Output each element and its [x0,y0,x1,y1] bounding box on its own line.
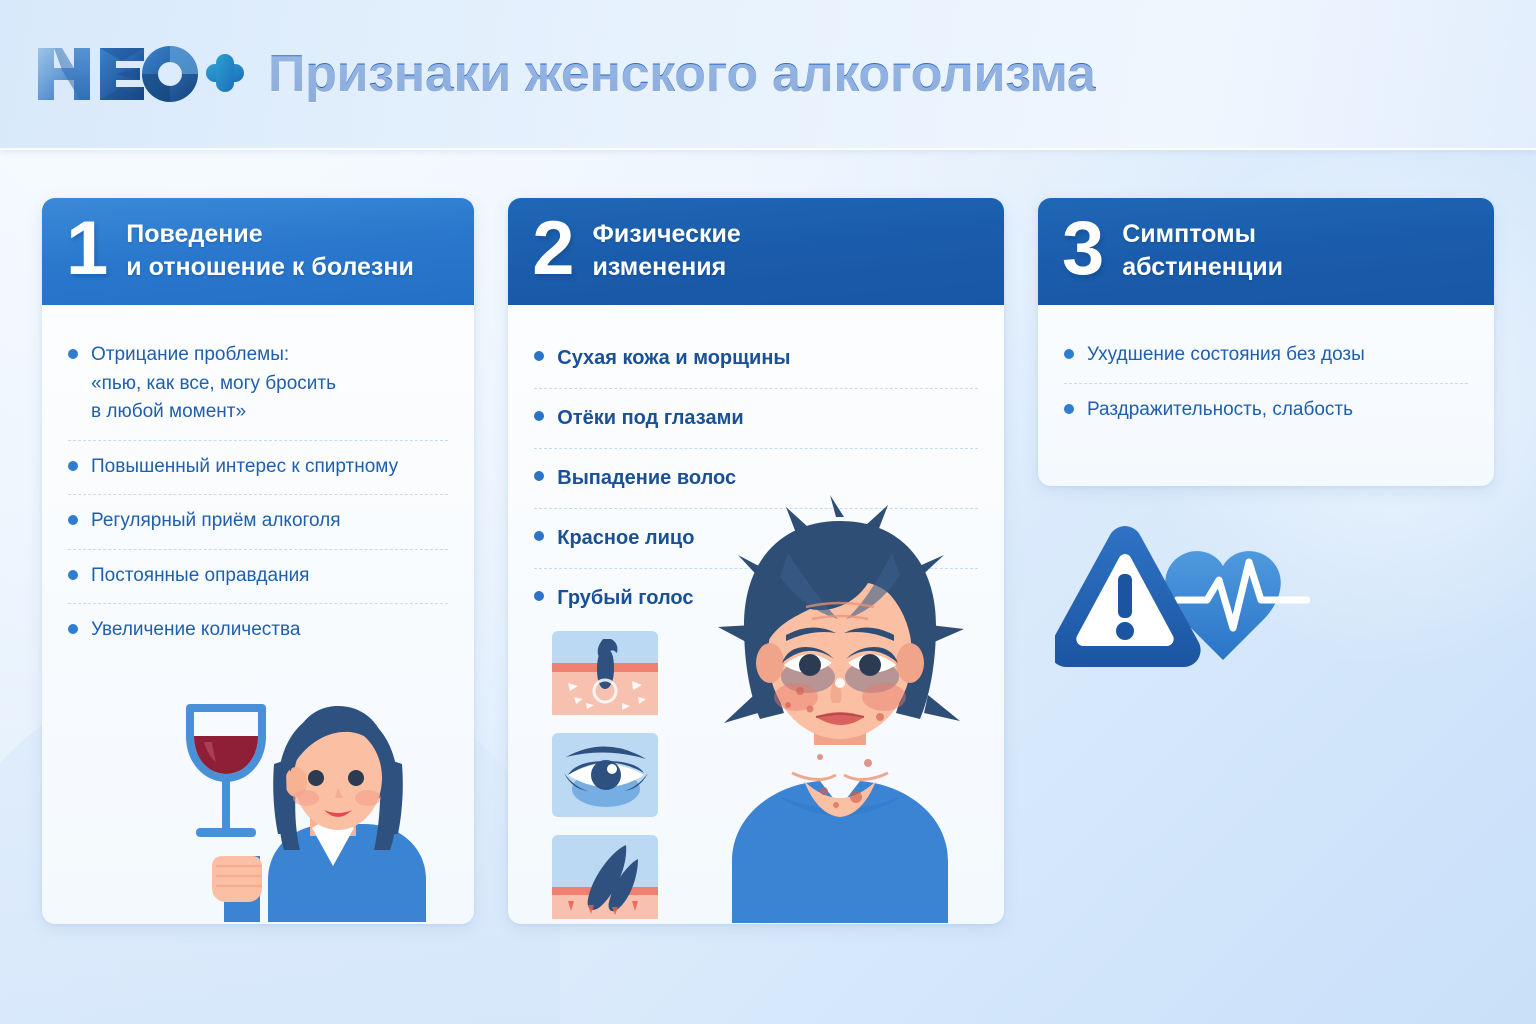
list-item: Ухудшение состояния без дозы [1064,329,1468,384]
bullet-dot-icon [68,515,78,525]
list-item: Отрицание проблемы: «пью, как все, могу … [68,329,448,441]
bullet-label: Выпадение волос [557,463,736,493]
bullet-label: Регулярный приём алкоголя [91,507,341,536]
card-body-3: Ухудшение состояния без дозы Раздражител… [1038,305,1494,437]
card-title-2-line2: изменения [593,253,727,281]
bullet-label: Увеличение количества [91,616,300,645]
infographic-poster: Признаки женского алкоголизма 1 Поведени… [0,0,1536,1024]
bullet-dot-icon [534,471,544,481]
bullet-dot-icon [68,624,78,634]
bullet-main-text: Отрицание проблемы: [91,344,289,365]
card-withdrawal-symptoms: 3 Симптомы абстиненции Ухудшение состоян… [1038,198,1494,486]
bullet-label: Постоянные оправдания [91,562,309,591]
bullet-label: Красное лицо [557,523,694,553]
hair-loss-icon [552,835,658,919]
woman-with-wine-glass-illustration [160,650,480,930]
skin-pores-icon [552,631,658,715]
symptom-icon-stack [540,625,670,925]
card-title-2: Физические изменения [593,218,741,284]
card-title-1: Поведение и отношение к болезни [126,218,414,284]
list-item: Постоянные оправдания [68,550,448,605]
bullet-dot-icon [534,411,544,421]
bullet-dot-icon [534,531,544,541]
card-title-3-line2: абстиненции [1122,253,1283,281]
card-title-1-line1: Поведение [126,220,262,248]
bullet-dot-icon [68,570,78,580]
alert-icons-group [1055,512,1335,682]
bullet-label: Повышенный интерес к спиртному [91,453,398,482]
page-title: Признаки женского алкоголизма [268,44,1096,104]
bullet-quote-line2: в любой момент» [91,398,336,427]
bullet-label: Сухая кожа и морщины [557,343,790,373]
card-body-1: Отрицание проблемы: «пью, как все, могу … [42,305,474,658]
card-title-3: Симптомы абстиненции [1122,218,1283,284]
list-item: Отёки под глазами [534,389,978,449]
card-number-2: 2 [532,217,574,285]
bullet-label: Раздражительность, слабость [1087,396,1353,425]
bullet-list-1: Отрицание проблемы: «пью, как все, могу … [68,329,448,658]
bullet-label: Грубый голос [557,583,693,613]
header-content: Признаки женского алкоголизма [34,38,1096,110]
card-number-1: 1 [66,217,108,285]
card-header-2: 2 Физические изменения [508,198,1004,305]
eye-bags-icon [552,733,658,817]
bullet-dot-icon [68,349,78,359]
list-item: Раздражительность, слабость [1064,384,1468,438]
bullet-label: Отрицание проблемы: «пью, как все, могу … [91,341,336,427]
card-header-1: 1 Поведение и отношение к болезни [42,198,474,305]
bullet-dot-icon [1064,349,1074,359]
bullet-quote-line1: «пью, как все, могу бросить [91,370,336,399]
bullet-dot-icon [68,461,78,471]
bullet-dot-icon [1064,404,1074,414]
bullet-dot-icon [534,591,544,601]
header-bar: Признаки женского алкоголизма [0,0,1536,150]
card-number-3: 3 [1062,217,1104,285]
tired-woman-illustration [680,495,1000,930]
bullet-dot-icon [534,351,544,361]
card-title-1-line2: и отношение к болезни [126,253,414,281]
bullet-label: Отёки под глазами [557,403,743,433]
card-title-3-line1: Симптомы [1122,220,1256,248]
bullet-list-3: Ухудшение состояния без дозы Раздражител… [1064,329,1468,437]
bullet-label: Ухудшение состояния без дозы [1087,341,1365,370]
list-item: Повышенный интерес к спиртному [68,441,448,496]
list-item: Сухая кожа и морщины [534,329,978,389]
neo-plus-logo [34,38,246,110]
card-title-2-line1: Физические [593,220,741,248]
card-header-3: 3 Симптомы абстиненции [1038,198,1494,305]
list-item: Регулярный приём алкоголя [68,495,448,550]
